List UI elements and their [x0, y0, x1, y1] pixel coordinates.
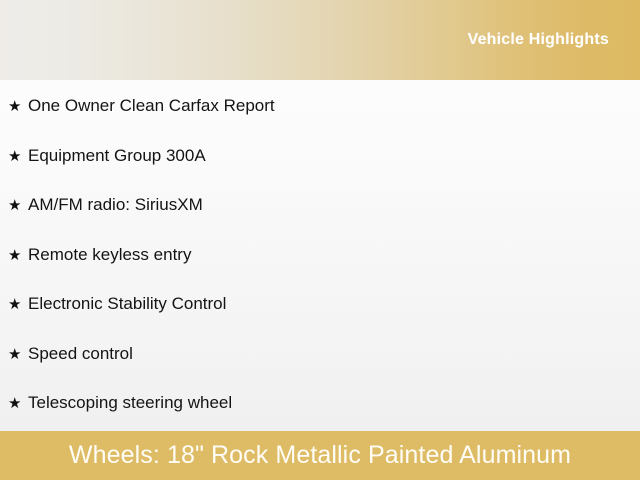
star-icon: ★ [8, 147, 28, 167]
list-item-label: Electronic Stability Control [28, 294, 640, 314]
vehicle-highlights-panel: Vehicle Highlights ★ One Owner Clean Car… [0, 0, 640, 480]
list-item[interactable]: ★ One Owner Clean Carfax Report [0, 96, 640, 146]
list-item-label: Speed control [28, 344, 640, 364]
star-icon: ★ [8, 246, 28, 266]
list-item[interactable]: ★ Equipment Group 300A [0, 146, 640, 196]
highlights-section: ★ One Owner Clean Carfax Report ★ Equipm… [0, 80, 640, 431]
list-item-label: Telescoping steering wheel [28, 393, 640, 413]
star-icon: ★ [8, 97, 28, 117]
star-icon: ★ [8, 345, 28, 365]
list-item[interactable]: ★ Electronic Stability Control [0, 294, 640, 344]
list-item-label: Remote keyless entry [28, 245, 640, 265]
star-icon: ★ [8, 295, 28, 315]
list-item[interactable]: ★ Speed control [0, 344, 640, 394]
page-title: Vehicle Highlights [468, 32, 609, 48]
list-item[interactable]: ★ Remote keyless entry [0, 245, 640, 295]
list-item-label: One Owner Clean Carfax Report [28, 96, 640, 116]
star-icon: ★ [8, 394, 28, 414]
highlights-list: ★ One Owner Clean Carfax Report ★ Equipm… [0, 96, 640, 443]
list-item[interactable]: ★ Telescoping steering wheel [0, 393, 640, 443]
panel-header: Vehicle Highlights [0, 0, 640, 80]
footer-caption: Wheels: 18" Rock Metallic Painted Alumin… [69, 443, 571, 468]
star-icon: ★ [8, 196, 28, 216]
list-item[interactable]: ★ AM/FM radio: SiriusXM [0, 195, 640, 245]
list-item-label: Equipment Group 300A [28, 146, 640, 166]
list-item-label: AM/FM radio: SiriusXM [28, 195, 640, 215]
